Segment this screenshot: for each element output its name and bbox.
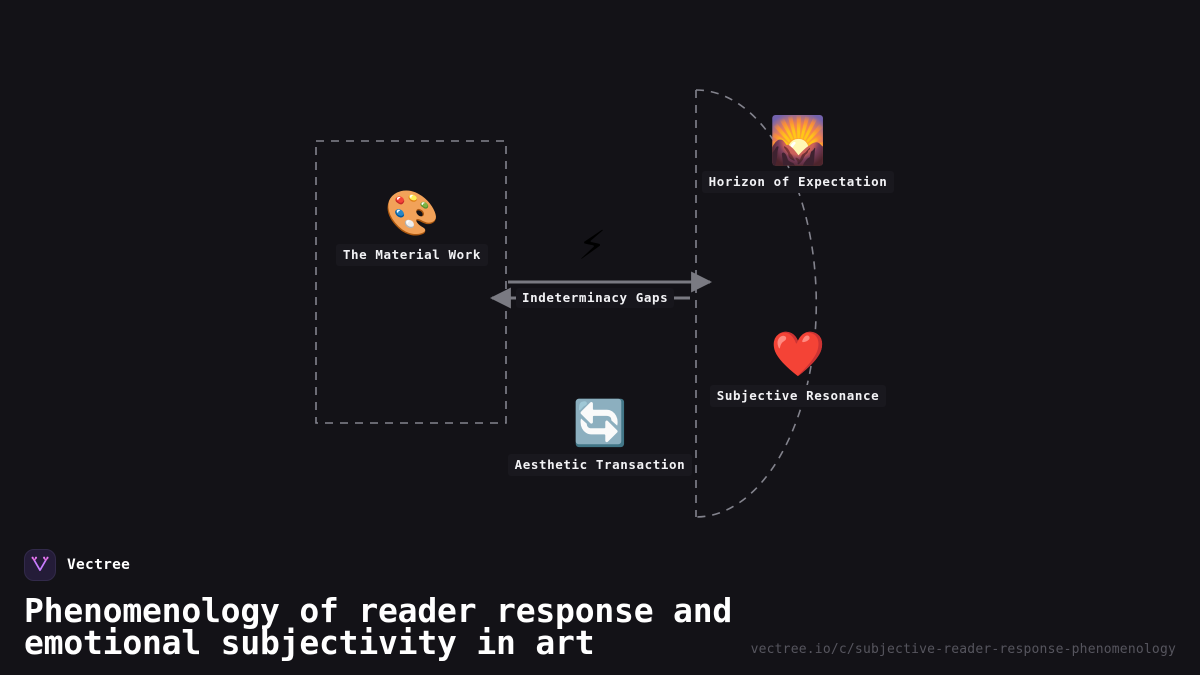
page-title: Phenomenology of reader response and emo… [24, 595, 744, 659]
high-voltage-icon: ⚡ [578, 226, 606, 266]
node-horizon-of-expectation[interactable]: 🌄 Horizon of Expectation [688, 117, 908, 193]
node-aesthetic-transaction[interactable]: 🔄 Aesthetic Transaction [490, 402, 710, 476]
node-label-material-work: The Material Work [336, 244, 488, 266]
node-material-work[interactable]: 🎨 The Material Work [302, 192, 522, 266]
footer-url: vectree.io/c/subjective-reader-response-… [751, 642, 1176, 657]
node-label-aesthetic-transaction: Aesthetic Transaction [508, 454, 693, 476]
node-label-horizon-of-expectation: Horizon of Expectation [702, 171, 895, 193]
vectree-v-tree-icon [24, 549, 56, 581]
edge-label-indeterminacy-gaps[interactable]: Indeterminacy Gaps [516, 288, 674, 308]
brand-name: Vectree [67, 557, 130, 573]
node-label-subjective-resonance: Subjective Resonance [710, 385, 887, 407]
red-heart-icon: ❤️ [771, 333, 826, 377]
boundary-material-work [316, 141, 506, 423]
diagram-canvas: ⚡ Indeterminacy Gaps 🎨 The Material Work… [0, 0, 1200, 675]
node-subjective-resonance[interactable]: ❤️ Subjective Resonance [688, 333, 908, 407]
counterclockwise-arrows-icon: 🔄 [573, 402, 628, 446]
artist-palette-icon: 🎨 [385, 192, 440, 236]
sunrise-over-mountains-icon: 🌄 [769, 117, 826, 163]
brand-row[interactable]: Vectree [24, 549, 1176, 581]
